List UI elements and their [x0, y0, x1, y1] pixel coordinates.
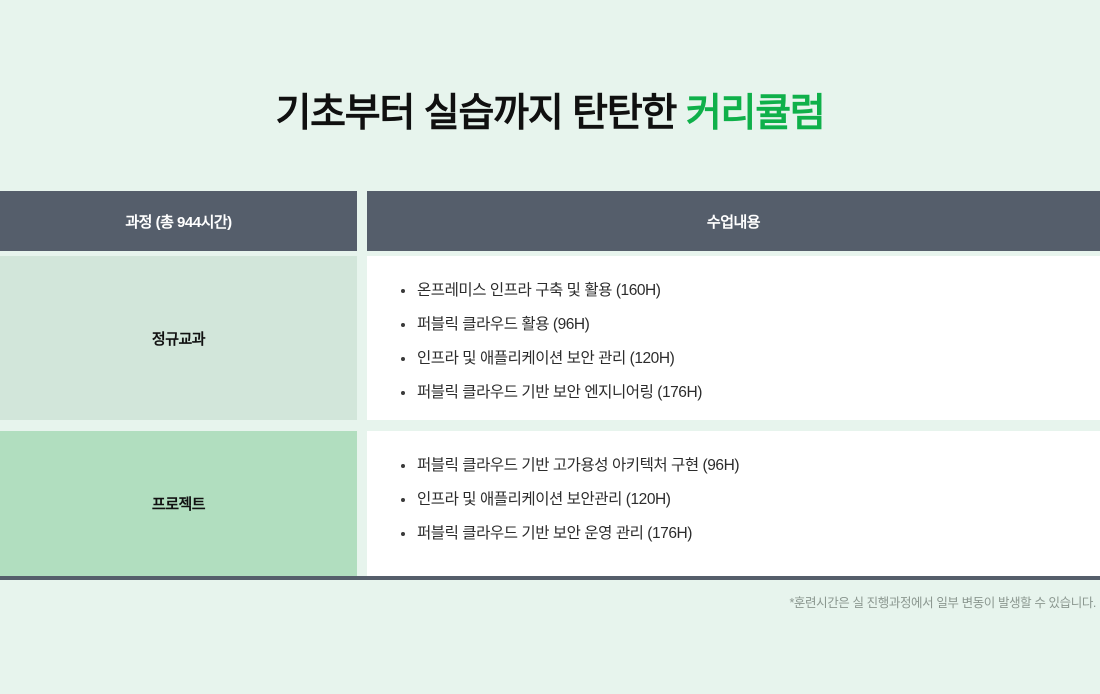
list-item: 퍼블릭 클라우드 기반 보안 운영 관리 (176H) — [367, 517, 1100, 551]
table-bottom-divider — [0, 576, 1100, 580]
list-item: 퍼블릭 클라우드 활용 (96H) — [367, 308, 1100, 342]
list-item: 퍼블릭 클라우드 기반 고가용성 아키텍처 구현 (96H) — [367, 449, 1100, 483]
row-content-project: 퍼블릭 클라우드 기반 고가용성 아키텍처 구현 (96H) 인프라 및 애플리… — [367, 431, 1100, 576]
list-item-label: 온프레미스 인프라 구축 및 활용 (160H) — [417, 282, 661, 299]
page-title-accent: 커리큘럼 — [686, 92, 825, 135]
list-item-label: 퍼블릭 클라우드 기반 보안 엔지니어링 (176H) — [417, 384, 702, 401]
table-header-row: 과정 (총 944시간) 수업내용 — [0, 191, 1100, 251]
row-label-project: 프로젝트 — [0, 431, 357, 576]
list-item-label: 퍼블릭 클라우드 활용 (96H) — [417, 316, 589, 333]
table-body: 정규교과 온프레미스 인프라 구축 및 활용 (160H) 퍼블릭 클라우드 활… — [0, 256, 1100, 576]
project-item-list: 퍼블릭 클라우드 기반 고가용성 아키텍처 구현 (96H) 인프라 및 애플리… — [367, 449, 1100, 551]
bullet-dot-icon — [401, 498, 405, 502]
curriculum-table: 과정 (총 944시간) 수업내용 정규교과 온프레미스 인프라 구축 및 활용… — [0, 191, 1100, 580]
column-header-content: 수업내용 — [367, 191, 1100, 251]
course-item-list: 온프레미스 인프라 구축 및 활용 (160H) 퍼블릭 클라우드 활용 (96… — [367, 274, 1100, 410]
page-title-lead: 기초부터 실습까지 탄탄한 — [275, 92, 685, 135]
page-title-wrap: 기초부터 실습까지 탄탄한 커리큘럼 — [0, 90, 1100, 139]
row-content-regular: 온프레미스 인프라 구축 및 활용 (160H) 퍼블릭 클라우드 활용 (96… — [367, 256, 1100, 420]
list-item: 인프라 및 애플리케이션 보안 관리 (120H) — [367, 342, 1100, 376]
list-item-label: 퍼블릭 클라우드 기반 고가용성 아키텍처 구현 (96H) — [417, 457, 739, 474]
list-item-label: 인프라 및 애플리케이션 보안 관리 (120H) — [417, 350, 674, 367]
table-row: 정규교과 온프레미스 인프라 구축 및 활용 (160H) 퍼블릭 클라우드 활… — [0, 256, 1100, 420]
curriculum-section: 기초부터 실습까지 탄탄한 커리큘럼 과정 (총 944시간) 수업내용 정규교… — [0, 0, 1100, 694]
page-title: 기초부터 실습까지 탄탄한 커리큘럼 — [0, 90, 1100, 139]
footnote-text: *훈련시간은 실 진행과정에서 일부 변동이 발생할 수 있습니다. — [789, 592, 1096, 611]
list-item: 퍼블릭 클라우드 기반 보안 엔지니어링 (176H) — [367, 376, 1100, 410]
table-row: 프로젝트 퍼블릭 클라우드 기반 고가용성 아키텍처 구현 (96H) 인프라 … — [0, 431, 1100, 576]
bullet-dot-icon — [401, 532, 405, 536]
bullet-dot-icon — [401, 464, 405, 468]
row-label-regular: 정규교과 — [0, 256, 357, 420]
list-item: 인프라 및 애플리케이션 보안관리 (120H) — [367, 483, 1100, 517]
column-header-course: 과정 (총 944시간) — [0, 191, 357, 251]
bullet-dot-icon — [401, 391, 405, 395]
list-item-label: 퍼블릭 클라우드 기반 보안 운영 관리 (176H) — [417, 525, 692, 542]
list-item-label: 인프라 및 애플리케이션 보안관리 (120H) — [417, 491, 670, 508]
bullet-dot-icon — [401, 289, 405, 293]
bullet-dot-icon — [401, 357, 405, 361]
bullet-dot-icon — [401, 323, 405, 327]
list-item: 온프레미스 인프라 구축 및 활용 (160H) — [367, 274, 1100, 308]
